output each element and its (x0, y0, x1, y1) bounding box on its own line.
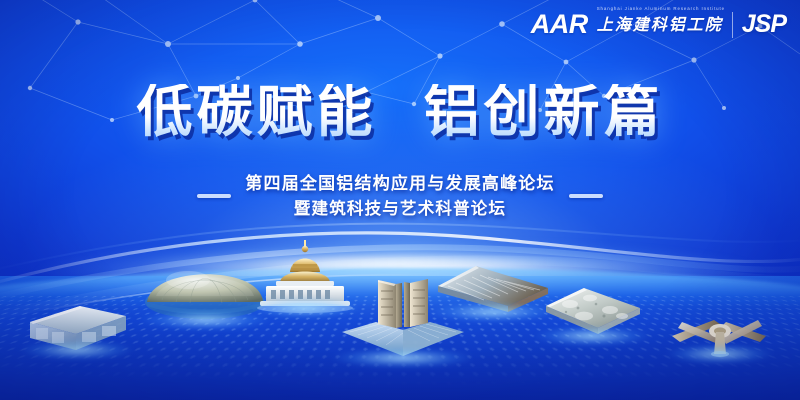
aar-wordmark: AAR (531, 11, 588, 38)
aar-letter-a2: A (550, 9, 569, 39)
building-stone-terrace (536, 282, 648, 342)
logo-divider (732, 12, 733, 38)
subtitle-line-1: 第四届全国铝结构应用与发展高峰论坛 (245, 172, 554, 197)
event-banner: AAR Shanghai Jianke Aluminum Research In… (0, 0, 800, 400)
main-title: 低碳赋能 铝创新篇 (0, 84, 800, 143)
jsp-wordmark: JSP (742, 12, 786, 37)
building-cross-canopy (668, 306, 772, 360)
aar-letter-a1: A (531, 9, 550, 39)
brand-chinese-wrap: Shanghai Jianke Aluminum Research Instit… (597, 15, 723, 35)
subtitle-line-2: 暨建筑科技与艺术科普论坛 (245, 197, 554, 221)
building-glow (6, 337, 149, 363)
brand-logo-lockup[interactable]: AAR Shanghai Jianke Aluminum Research In… (531, 11, 786, 38)
left-dash-icon (197, 194, 231, 198)
subtitle-text: 第四届全国铝结构应用与发展高峰论坛 暨建筑科技与艺术科普论坛 (245, 172, 554, 221)
right-dash-icon (569, 194, 603, 198)
subtitle-block: 第四届全国铝结构应用与发展高峰论坛 暨建筑科技与艺术科普论坛 (0, 172, 800, 221)
brand-chinese-name: 上海建科铝工院 (597, 17, 723, 34)
architecture-row (0, 236, 800, 376)
brand-english-name: Shanghai Jianke Aluminum Research Instit… (597, 6, 725, 11)
building-glow (519, 323, 665, 349)
building-glow (652, 341, 787, 367)
aar-letter-r: R (569, 9, 588, 39)
building-glass-pavilion (22, 300, 132, 356)
building-glow (313, 345, 492, 371)
